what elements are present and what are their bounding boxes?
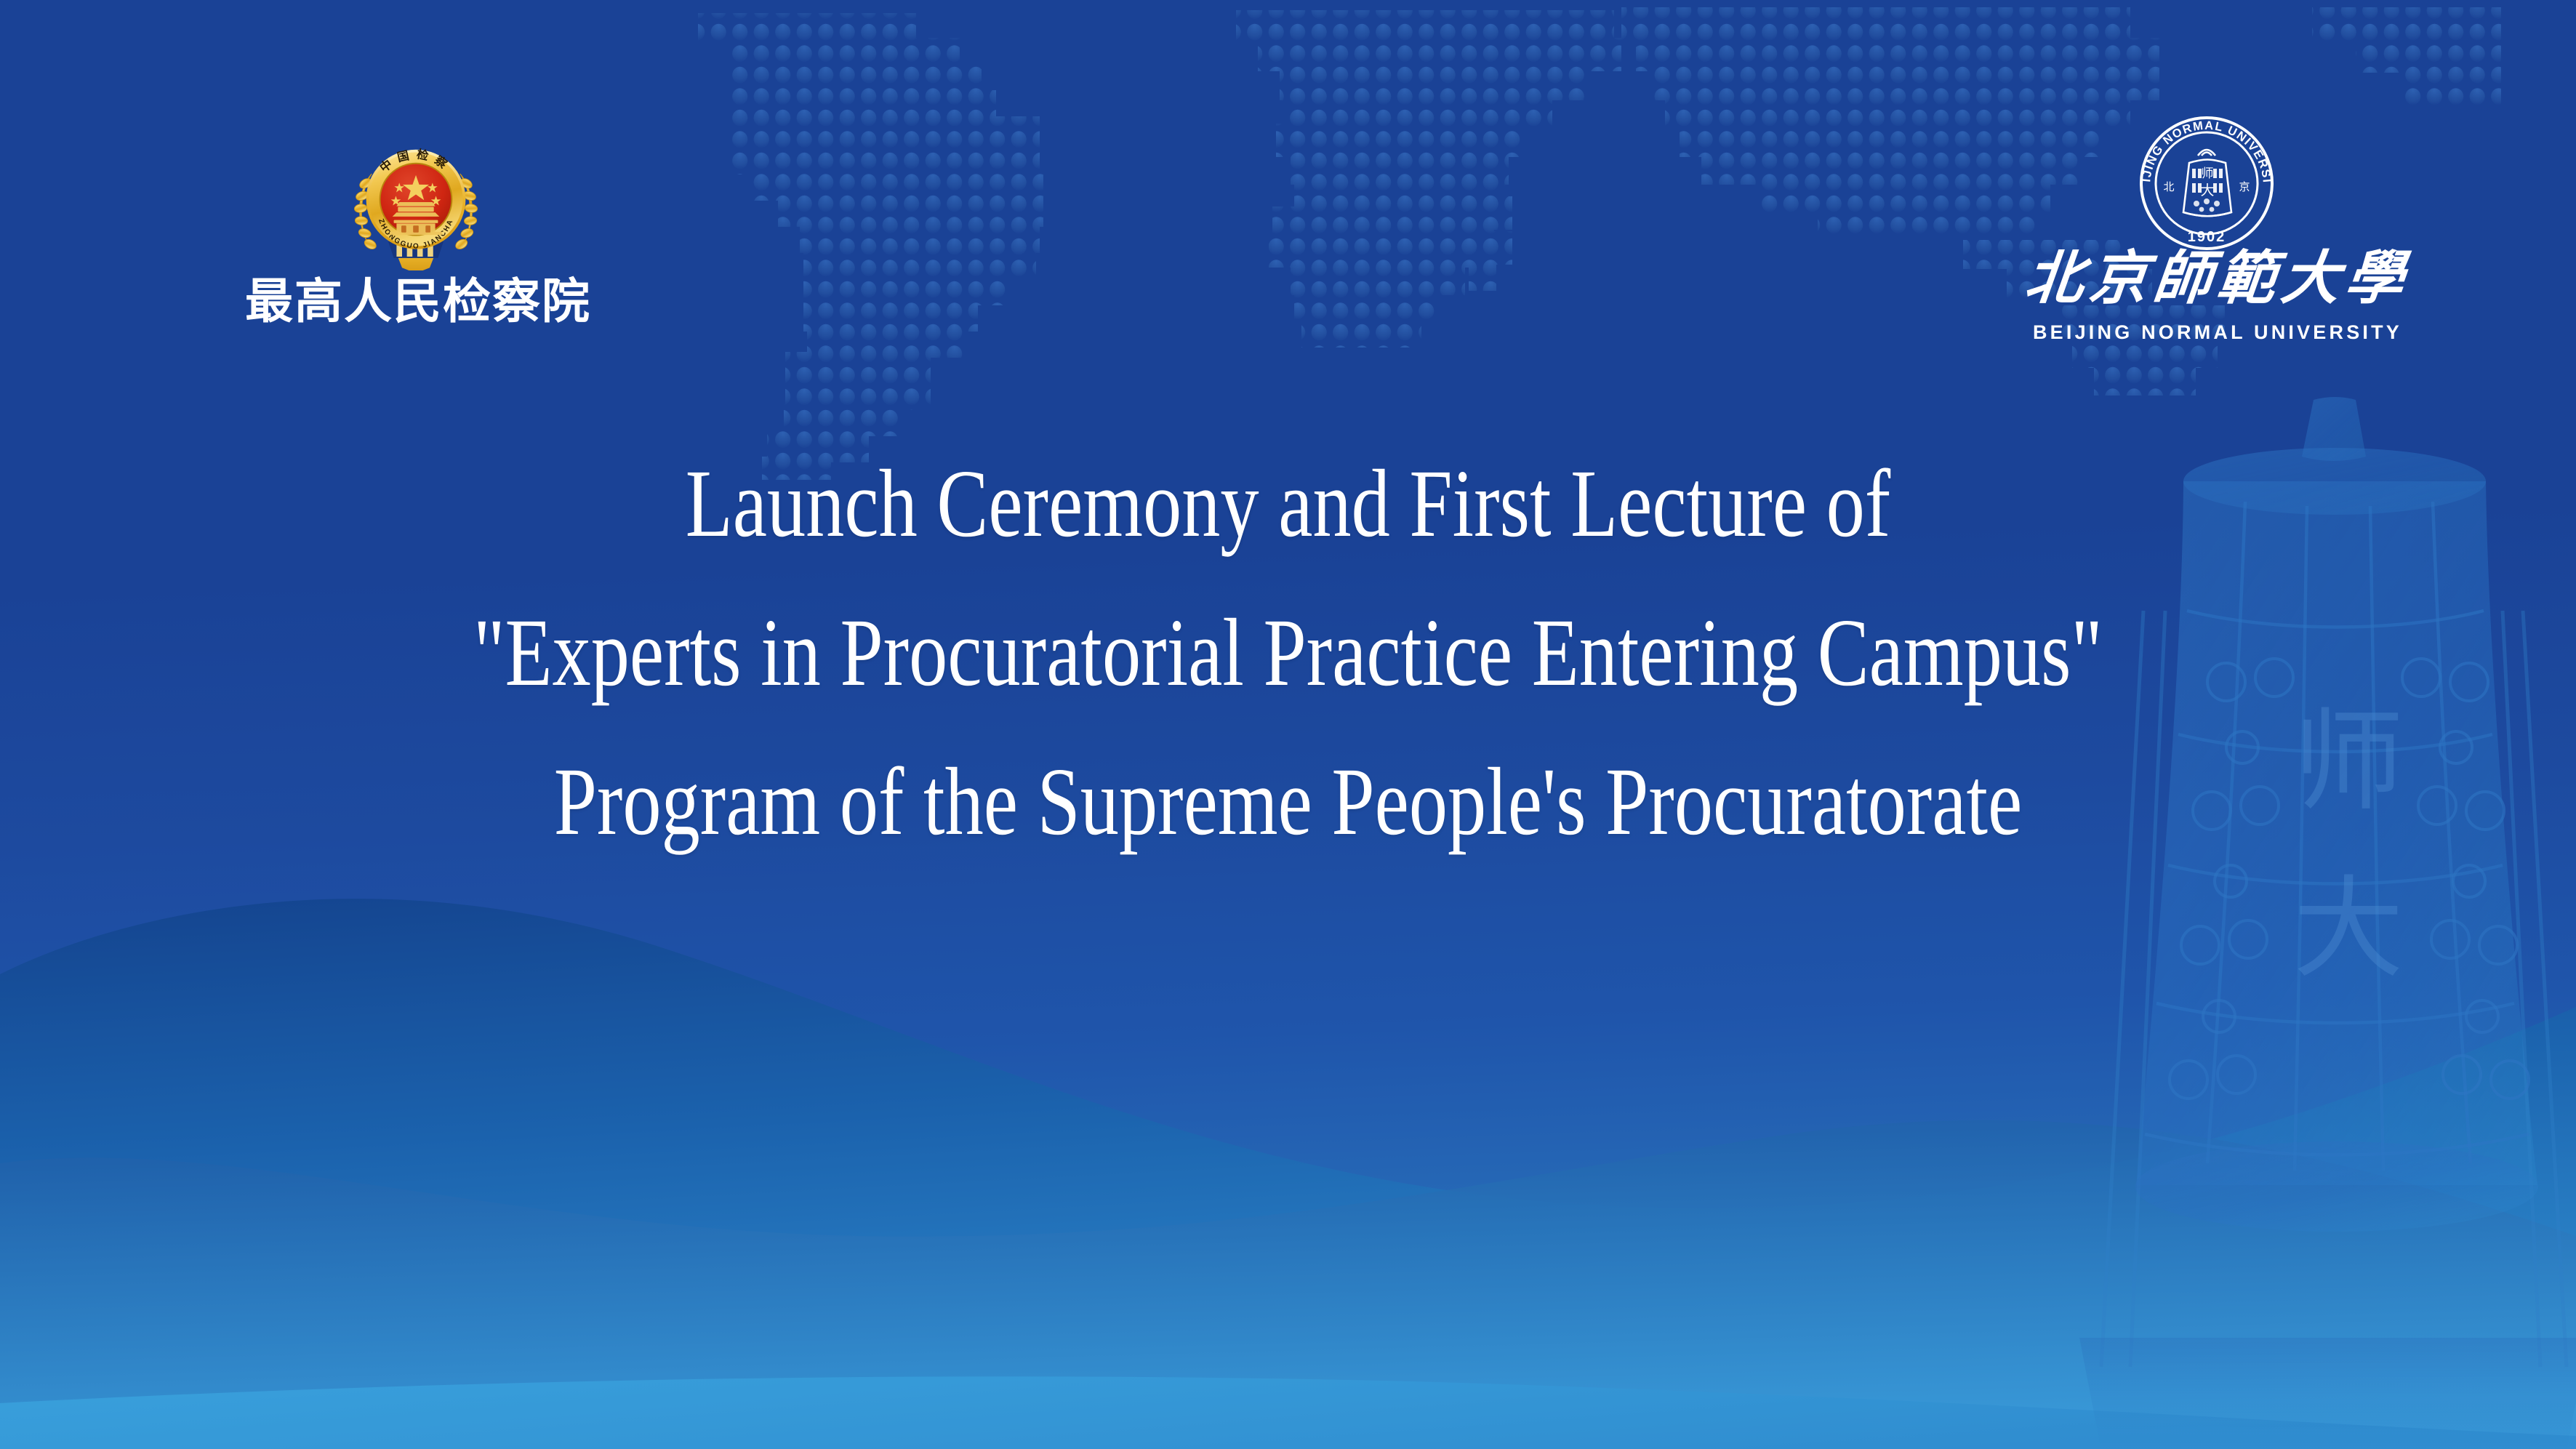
bnu-bell-watermark: 师 大	[2058, 393, 2576, 1449]
bnu-name-english: BEIJING NORMAL UNIVERSITY	[1999, 321, 2436, 344]
procuratorate-organization-name: 最高人民检察院	[245, 278, 587, 326]
supreme-peoples-procuratorate-emblem: 中国检察 ZHONGGUO JIANCHA	[347, 132, 485, 270]
beijing-normal-university-seal: BEIJING NORMAL UNIVERSITY 1902 师	[2134, 111, 2279, 256]
bell-char-shi: 师	[2293, 697, 2404, 826]
supreme-procuratorate-logo-block: 中国检察 ZHONGGUO JIANCHA	[245, 132, 587, 350]
seal-char-jing: 京	[2239, 180, 2250, 193]
poster-canvas: 师 大	[0, 0, 2576, 1449]
seal-char-bei: 北	[2163, 180, 2174, 193]
bnu-logo-block: BEIJING NORMAL UNIVERSITY 1902 师	[1999, 111, 2436, 358]
bell-char-da: 大	[2293, 864, 2404, 993]
bnu-name-chinese: 北京師範大學	[1997, 249, 2439, 307]
bnu-seal-year: 1902	[2188, 229, 2226, 245]
seal-char-shi: 师	[2202, 166, 2214, 181]
seal-char-da: 大	[2200, 182, 2214, 198]
